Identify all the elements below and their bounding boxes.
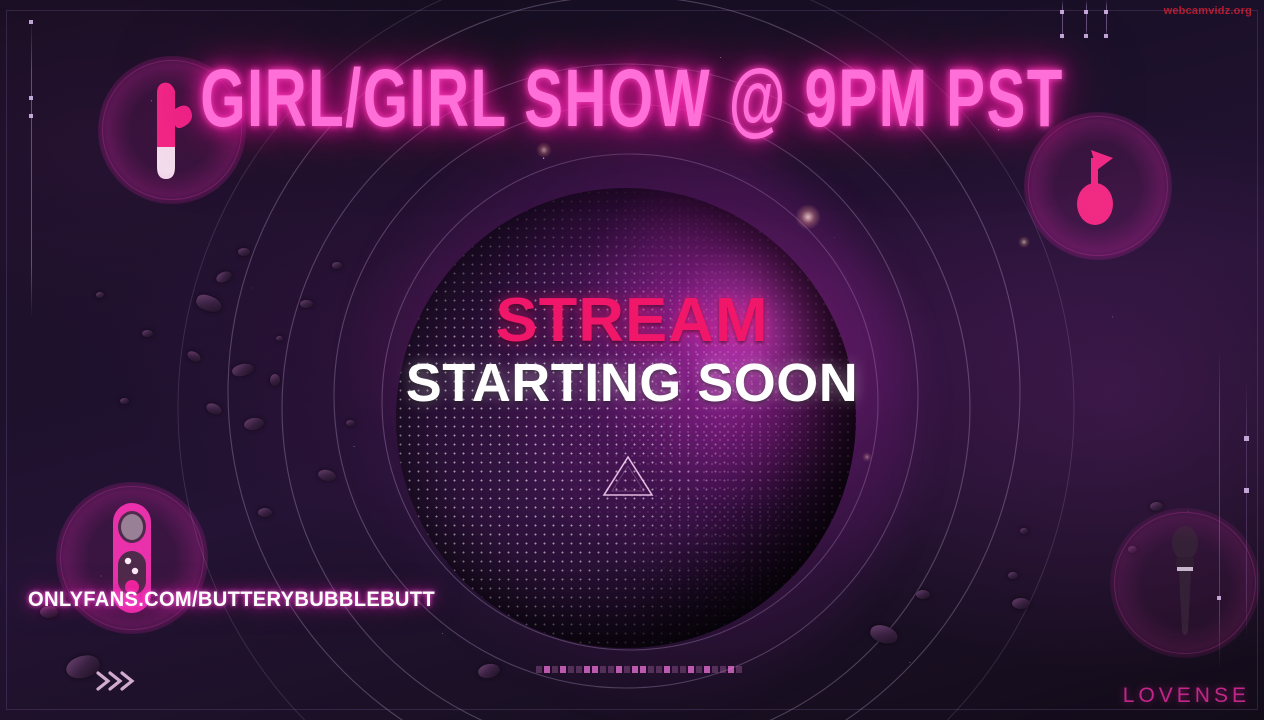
hud-segment <box>672 666 678 673</box>
hud-segment <box>712 666 718 673</box>
hud-corner-frame-top-left <box>6 10 1258 710</box>
hud-segment <box>648 666 654 673</box>
hud-segment <box>568 666 574 673</box>
hud-segment <box>736 666 742 673</box>
hud-segment <box>632 666 638 673</box>
stream-starting-soon-overlay: GIRL/GIRL SHOW @ 9PM PST STREAM STARTING… <box>0 0 1264 720</box>
hud-marker-dot <box>1244 436 1249 441</box>
hud-segment-bar <box>536 666 742 673</box>
hud-segment <box>728 666 734 673</box>
hud-segment <box>560 666 566 673</box>
hud-marker-dot <box>1244 488 1249 493</box>
hud-marker-dot <box>1104 10 1108 14</box>
hud-marker-dot <box>29 96 33 100</box>
hud-segment <box>608 666 614 673</box>
hud-marker-dot <box>29 114 33 118</box>
hud-marker-dot <box>1084 10 1088 14</box>
hud-marker-dot <box>1217 596 1221 600</box>
hud-segment <box>696 666 702 673</box>
hud-marker-dot <box>1084 34 1088 38</box>
hud-segment <box>544 666 550 673</box>
hud-segment <box>664 666 670 673</box>
double-chevron-right-icon <box>92 668 138 694</box>
hud-segment <box>640 666 646 673</box>
hud-marker-dot <box>1060 10 1064 14</box>
hud-segment <box>624 666 630 673</box>
hud-segment <box>704 666 710 673</box>
hud-marker-dot <box>29 20 33 24</box>
hud-marker-dot <box>1060 34 1064 38</box>
hud-segment <box>600 666 606 673</box>
hud-segment <box>592 666 598 673</box>
hud-segment <box>656 666 662 673</box>
hud-segment <box>584 666 590 673</box>
hud-segment <box>552 666 558 673</box>
hud-segment <box>680 666 686 673</box>
hud-marker-dot <box>1104 34 1108 38</box>
hud-segment <box>536 666 542 673</box>
hud-segment <box>576 666 582 673</box>
hud-segment <box>688 666 694 673</box>
hud-segment <box>720 666 726 673</box>
hud-segment <box>616 666 622 673</box>
